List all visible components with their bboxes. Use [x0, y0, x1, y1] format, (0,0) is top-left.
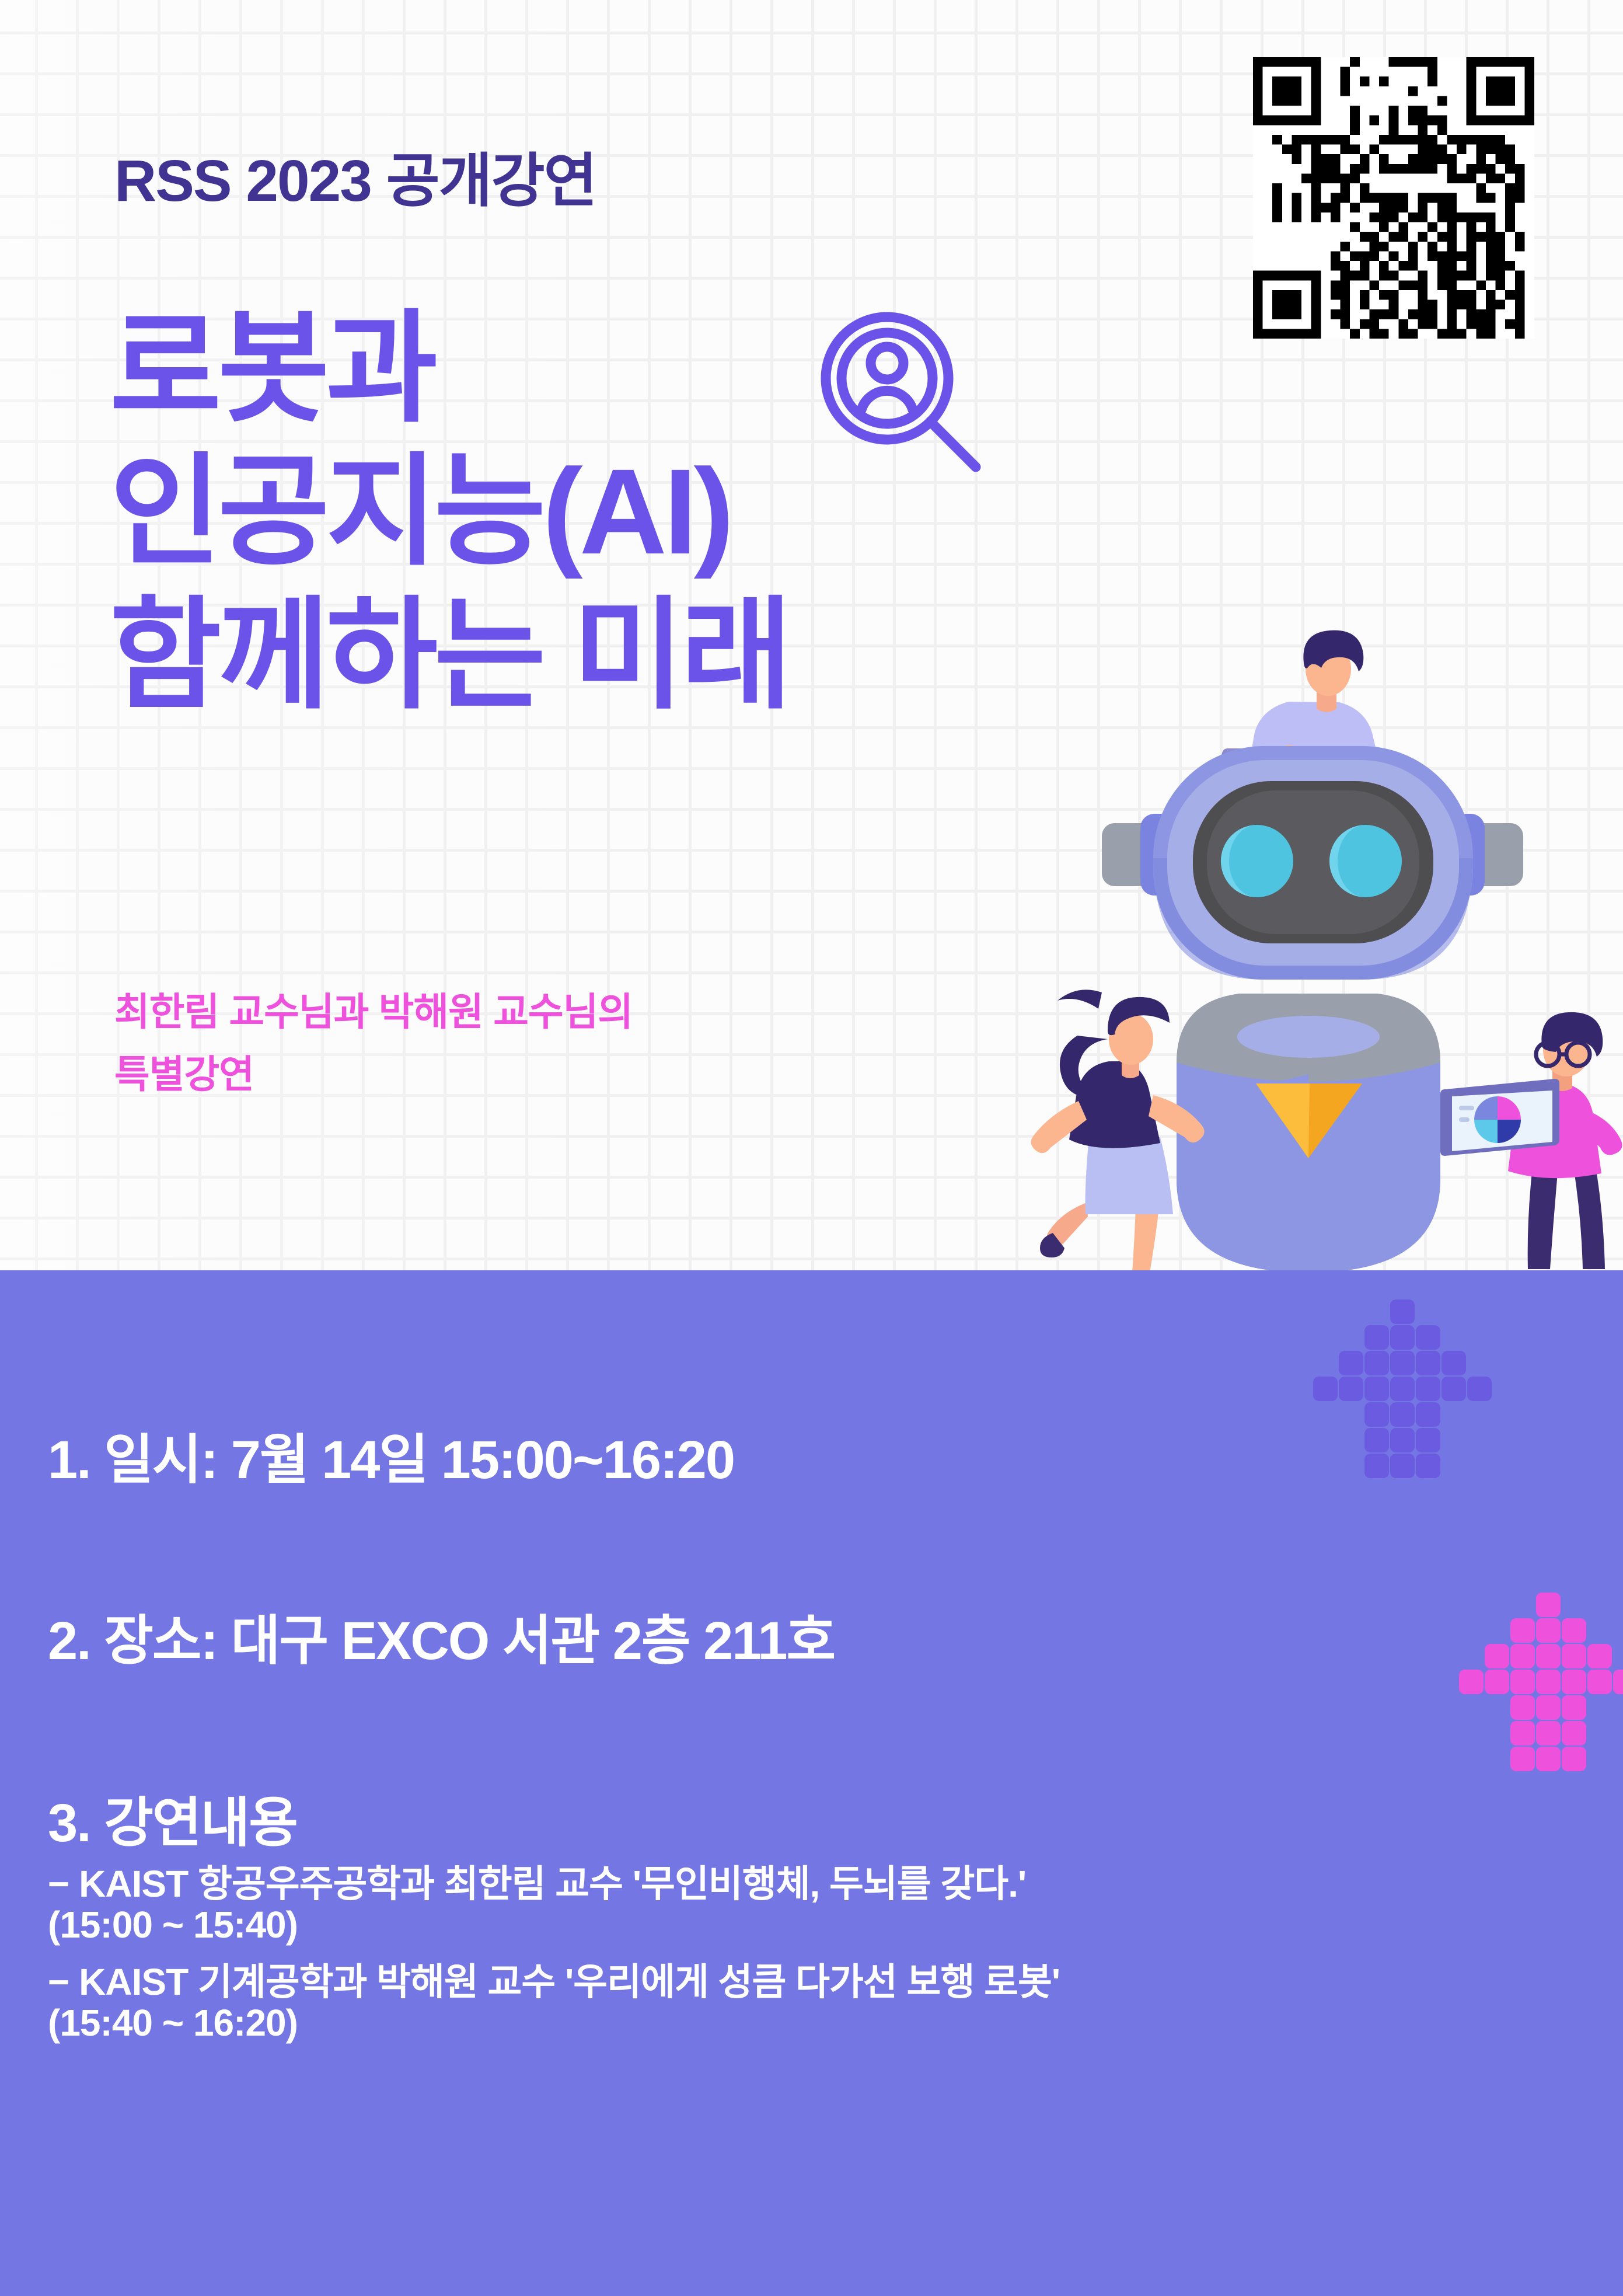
decor-arrow-purple	[1313, 1299, 1488, 1469]
info-panel: 1. 일시: 7월 14일 15:00~16:20 2. 장소: 대구 EXCO…	[0, 1270, 1623, 2296]
poster-subtitle: 최한림 교수님과 박해원 교수님의 특별강연	[114, 981, 633, 1106]
man-with-tablet	[1440, 1012, 1622, 1269]
title-line-1: 로봇과	[110, 298, 789, 441]
lecture-bullet-1: − KAIST 항공우주공학과 최한림 교수 '무인비행체, 두뇌를 갖다.'	[48, 1854, 1026, 1908]
decor-arrow-pink	[1459, 1593, 1623, 1762]
title-line-2: 인공지능(AI)	[110, 441, 789, 584]
title-line-3: 함께하는 미래	[110, 584, 789, 727]
subtitle-line-1: 최한림 교수님과 박해원 교수님의	[114, 981, 633, 1043]
info-item-location: 2. 장소: 대구 EXCO 서관 2층 211호	[48, 1597, 835, 1675]
running-woman	[1031, 990, 1204, 1273]
robot-head	[1102, 746, 1523, 980]
poster-root: RSS 2023 공개강연 로봇과 인공지능(AI) 함께하는 미래 최한림 교…	[0, 0, 1623, 2296]
magnifier-person-icon	[811, 309, 998, 485]
robot-and-people-illustration	[992, 613, 1623, 1273]
lecture-time-1: (15:00 ~ 15:40)	[48, 1903, 298, 1946]
robot-body	[1177, 994, 1440, 1273]
info-item-datetime: 1. 일시: 7월 14일 15:00~16:20	[48, 1416, 734, 1494]
info-item-contents-heading: 3. 강연내용	[48, 1779, 297, 1857]
lecture-time-2: (15:40 ~ 16:20)	[48, 2001, 298, 2044]
lecture-bullet-2: − KAIST 기계공학과 박해원 교수 '우리에게 성큼 다가선 보행 로봇'	[48, 1952, 1060, 2006]
poster-kicker: RSS 2023 공개강연	[114, 133, 596, 218]
qr-code[interactable]	[1253, 57, 1534, 339]
page-title: 로봇과 인공지능(AI) 함께하는 미래	[110, 298, 789, 727]
subtitle-line-2: 특별강연	[114, 1043, 633, 1106]
